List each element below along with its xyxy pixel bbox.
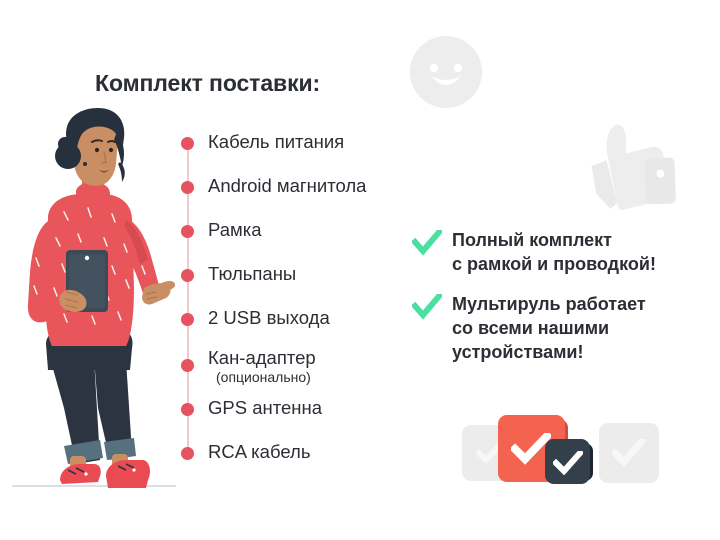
benefit-text: Мультируль работает со всеми нашими устр… — [452, 294, 646, 362]
green-check-icon — [412, 230, 442, 256]
woman-pointing-illustration — [8, 108, 176, 500]
checkbox-cards-illustration — [462, 415, 647, 493]
bullet-dot-icon — [181, 137, 194, 150]
list-item-label: Кабель питания — [208, 128, 344, 156]
bullet-dot-icon — [181, 359, 194, 372]
page-title: Комплект поставки: — [95, 70, 320, 97]
list-item: Рамка — [178, 216, 418, 244]
list-item: Кабель питания — [178, 128, 418, 156]
promo-image-canvas: Комплект поставки: — [0, 0, 720, 540]
list-item-label: RCA кабель — [208, 438, 310, 466]
list-item-label: GPS антенна — [208, 394, 322, 422]
thumbs-up-icon — [578, 112, 688, 214]
checkbox-card-gray-right — [599, 423, 659, 483]
list-item-label: 2 USB выхода — [208, 304, 330, 332]
list-item: Тюльпаны — [178, 260, 418, 288]
benefit-item: Мультируль работает со всеми нашими устр… — [412, 292, 712, 364]
spec-list: Кабель питания Android магнитола Рамка Т… — [178, 128, 418, 468]
green-check-icon — [412, 294, 442, 320]
list-item-label: Рамка — [208, 216, 262, 244]
avito-logo-icon — [619, 503, 644, 525]
bullet-dot-icon — [181, 403, 194, 416]
bullet-dot-icon — [181, 447, 194, 460]
bullet-dot-icon — [181, 313, 194, 326]
benefit-item: Полный комплект с рамкой и проводкой! — [412, 228, 712, 276]
avito-wordmark: Avito — [649, 502, 703, 527]
list-item: 2 USB выхода — [178, 304, 418, 332]
list-item: GPS антенна — [178, 394, 418, 422]
avito-watermark: Avito — [618, 498, 714, 528]
benefits-list: Полный комплект с рамкой и проводкой! Му… — [412, 228, 712, 380]
list-item-sublabel: (опционально) — [216, 368, 311, 386]
list-item: Android магнитола — [178, 172, 418, 200]
list-item: RCA кабель — [178, 438, 418, 466]
bullet-dot-icon — [181, 225, 194, 238]
list-item-label: Тюльпаны — [208, 260, 296, 288]
checkbox-card-navy — [545, 439, 590, 484]
bullet-dot-icon — [181, 269, 194, 282]
bullet-dot-icon — [181, 181, 194, 194]
list-item: Кан-адаптер (опционально) — [178, 344, 418, 390]
benefit-text: Полный комплект с рамкой и проводкой! — [452, 230, 656, 274]
smiley-face-icon — [406, 32, 486, 112]
list-item-label: Android магнитола — [208, 172, 366, 200]
